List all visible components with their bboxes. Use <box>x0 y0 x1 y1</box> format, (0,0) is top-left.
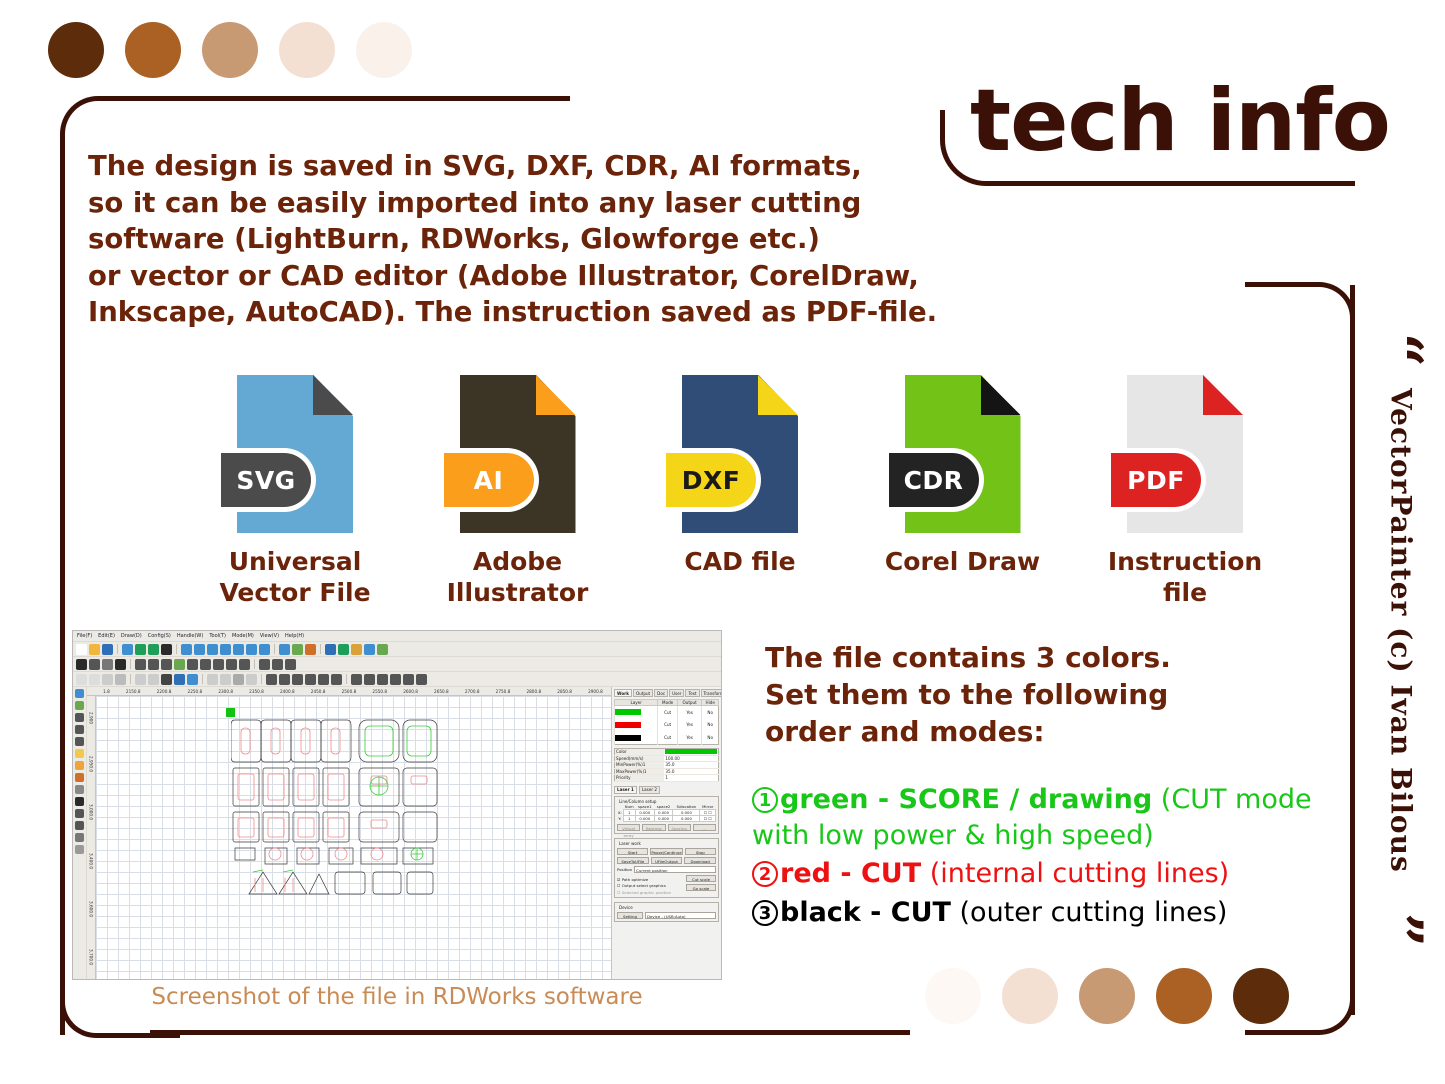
rdworks-menu-draw[interactable]: Draw(D) <box>121 633 142 639</box>
rdworks-menu-mode[interactable]: Mode(M) <box>232 633 254 639</box>
rdworks-laser-work-row1[interactable]: StartPause/ContinueStop <box>617 848 716 855</box>
tool-palette-icon-5[interactable] <box>75 749 84 758</box>
ruler-v-tick-0: 2,900 <box>89 712 94 724</box>
array-row[interactable]: Y:10.0000.0000.000☐ ☐ <box>617 816 716 822</box>
ruler-v-tick-1: 2,950.0 <box>89 756 94 772</box>
title-underline <box>1000 181 1355 186</box>
toolbar-icon-28[interactable] <box>416 674 427 685</box>
rdworks-device-title: Device <box>617 905 716 910</box>
ruler-h-tick-16: 2900.8 <box>588 689 603 694</box>
ruler-h-tick-13: 2750.8 <box>496 689 511 694</box>
file-icon-card-dxf: DXFCAD file <box>655 375 825 578</box>
toolbar-icon-12[interactable] <box>220 644 231 655</box>
rdworks-ruler-horizontal: 1.82150.82200.82250.82300.82350.82400.82… <box>87 687 611 696</box>
color-mode-item-2: 2red - CUT (internal cutting lines) <box>752 856 1342 892</box>
layer-hide-cell: No <box>702 706 719 719</box>
decor-dot-2 <box>1079 968 1135 1024</box>
frame-line-bottom <box>150 1030 910 1035</box>
watermark-text: VectorPainter (c) Ivan Bilous <box>1378 330 1424 930</box>
toolbar-icon-16[interactable] <box>266 674 277 685</box>
svg-file-icon: SVG <box>237 375 353 533</box>
toolbar-icon-8[interactable] <box>174 674 185 685</box>
layer-row[interactable]: CutYesNo <box>615 719 719 731</box>
toolbar-icon-17[interactable] <box>279 674 290 685</box>
tool-palette-icon-4[interactable] <box>75 737 84 746</box>
array-column-2: space1 <box>635 804 654 810</box>
screenshot-caption: Screenshot of the file in RDWorks softwa… <box>72 984 722 1010</box>
rdworks-menu-file[interactable]: File(F) <box>77 633 92 639</box>
toolbar-icon-2[interactable] <box>102 674 113 685</box>
laser-work-button-savetoufile[interactable]: SaveToUFile <box>617 857 649 864</box>
decor-dot-1 <box>1002 968 1058 1024</box>
tool-palette-icon-1[interactable] <box>75 701 84 710</box>
toolbar-separator <box>261 674 262 684</box>
toolbar-icon-6[interactable] <box>148 674 159 685</box>
rdworks-tab-output[interactable]: Output <box>633 689 653 697</box>
rdworks-device-setting-button[interactable]: Setting <box>617 912 643 919</box>
layer-swatch-cell[interactable] <box>615 706 658 719</box>
toolbar-separator <box>274 644 275 654</box>
toolbar-icon-1[interactable] <box>89 644 100 655</box>
laser-work-button-download[interactable]: Download <box>684 857 716 864</box>
toolbar-icon-6[interactable] <box>148 659 159 670</box>
layer-row[interactable]: CutYesNo <box>615 731 719 744</box>
rdworks-right-panel[interactable]: WorkOutputDocUserTestTransform LayerMode… <box>611 687 721 980</box>
ruler-h-tick-4: 2300.8 <box>218 689 233 694</box>
tool-palette-icon-7[interactable] <box>75 773 84 782</box>
toolbar-icon-4[interactable] <box>122 644 133 655</box>
rdworks-tab-transform[interactable]: Transform <box>701 689 723 697</box>
toolbar-icon-17[interactable] <box>279 644 290 655</box>
rdworks-tab-doc[interactable]: Doc <box>654 689 668 697</box>
toolbar-icon-11[interactable] <box>207 644 218 655</box>
rdworks-tab-user[interactable]: User <box>669 689 684 697</box>
layer-mode-cell: Cut <box>658 719 678 731</box>
tool-palette-icon-0[interactable] <box>75 689 84 698</box>
toolbar-icon-15[interactable] <box>259 644 270 655</box>
color-item-rest: (outer cutting lines) <box>951 897 1227 928</box>
ruler-h-tick-3: 2250.8 <box>188 689 203 694</box>
param-row[interactable]: Priority1 <box>615 775 719 782</box>
ruler-h-tick-15: 2850.8 <box>557 689 572 694</box>
rdworks-menu-config[interactable]: Config(S) <box>148 633 171 639</box>
rdworks-menu-edit[interactable]: Edit(E) <box>98 633 115 639</box>
toolbar-icon-10[interactable] <box>194 644 205 655</box>
toolbar-icon-25[interactable] <box>377 674 388 685</box>
array-dislocation[interactable]: 0.000 <box>673 816 700 822</box>
tool-palette-icon-6[interactable] <box>75 761 84 770</box>
color-item-bold: green - SCORE / drawing <box>780 784 1152 815</box>
toolbar-icon-8[interactable] <box>174 659 185 670</box>
rdworks-screenshot: File(F)Edit(E)Draw(D)Config(S)Handle(W)T… <box>72 630 722 980</box>
ruler-h-tick-7: 2450.8 <box>311 689 326 694</box>
rdworks-selected-position-checkbox[interactable]: ☐ Selected graphic position <box>617 890 684 895</box>
color-item-number: 1 <box>752 787 778 813</box>
rdworks-design-artwork <box>231 714 441 899</box>
intro-paragraph: The design is saved in SVG, DXF, CDR, AI… <box>88 148 958 331</box>
file-icon-caption: Universal Vector File <box>219 547 370 608</box>
array-column-4: Sdiscation <box>673 804 700 810</box>
toolbar-icon-19[interactable] <box>305 644 316 655</box>
array-button-1[interactable]: Bestrew <box>642 824 665 831</box>
array-column-5: Mirror <box>700 804 716 810</box>
toolbar-icon-0[interactable] <box>76 644 87 655</box>
array-column-1: Num <box>623 804 635 810</box>
rdworks-output-select-checkbox[interactable]: ☐ Output select graphics <box>617 883 684 888</box>
rdworks-toolbar-draw[interactable] <box>73 657 721 672</box>
layer-row[interactable]: CutYesNo <box>615 706 719 719</box>
color-item-number: 3 <box>752 900 778 926</box>
page-title: tech info <box>970 78 1390 164</box>
toolbar-icon-11[interactable] <box>207 674 218 685</box>
toolbar-icon-20[interactable] <box>318 674 329 685</box>
layer-output-cell: Yes <box>677 719 701 731</box>
toolbar-icon-3[interactable] <box>115 659 126 670</box>
decor-dot-0 <box>48 22 104 78</box>
ruler-h-tick-10: 2600.8 <box>403 689 418 694</box>
rdworks-menu-bar[interactable]: File(F)Edit(E)Draw(D)Config(S)Handle(W)T… <box>73 631 721 642</box>
file-icon-card-svg: SVGUniversal Vector File <box>210 375 380 608</box>
rdworks-canvas-area[interactable]: 1.82150.82200.82250.82300.82350.82400.82… <box>87 687 611 980</box>
ruler-v-tick-4: 3,600.0 <box>89 901 94 917</box>
rdworks-parameter-table[interactable]: ColorSpeed(mm/s)100.00MinPower(%)135.0Ma… <box>614 748 719 782</box>
file-icon-caption: Adobe Illustrator <box>447 547 589 608</box>
ruler-h-tick-6: 2400.8 <box>280 689 295 694</box>
toolbar-icon-19[interactable] <box>305 674 316 685</box>
frame-line-right <box>1350 285 1355 1015</box>
toolbar-separator <box>176 644 177 654</box>
toolbar-icon-18[interactable] <box>292 644 303 655</box>
decorative-dots-top <box>48 22 412 78</box>
dxf-file-icon: DXF <box>682 375 798 533</box>
rdworks-array-buttons[interactable]: Virtual arrayBestrewSpacing... <box>617 824 716 831</box>
toolbar-separator <box>130 659 131 669</box>
rdworks-device-select[interactable]: Device - (USB:Auto) <box>645 912 716 919</box>
toolbar-icon-7[interactable] <box>161 659 172 670</box>
toolbar-icon-0[interactable] <box>76 674 87 685</box>
layer-mode-cell: Cut <box>658 731 678 744</box>
rdworks-laser-work-row2[interactable]: SaveToUFileUFileOutputDownload <box>617 857 716 864</box>
rdworks-toolbar-align[interactable] <box>73 672 721 687</box>
toolbar-icon-1[interactable] <box>89 659 100 670</box>
ai-file-icon: AI <box>460 375 576 533</box>
toolbar-icon-24[interactable] <box>364 644 375 655</box>
file-badge-label: AI <box>474 466 504 495</box>
param-label: Priority <box>615 775 665 782</box>
ruler-h-tick-14: 2800.8 <box>526 689 541 694</box>
quote-close-glyph: ” <box>1369 913 1429 948</box>
toolbar-icon-6[interactable] <box>148 644 159 655</box>
rdworks-tab-test[interactable]: Test <box>685 689 699 697</box>
toolbar-icon-12[interactable] <box>220 674 231 685</box>
array-button-0[interactable]: Virtual array <box>617 824 640 831</box>
rdworks-canvas-grid[interactable] <box>96 696 611 980</box>
rdworks-laser-tab-1[interactable]: Laser 1 <box>614 786 637 794</box>
toolbar-icon-16[interactable] <box>272 659 283 670</box>
rdworks-laser-tab-2[interactable]: Laser 2 <box>639 786 660 794</box>
toolbar-icon-14[interactable] <box>246 674 257 685</box>
array-mirror[interactable]: ☐ ☐ <box>700 816 716 822</box>
rdworks-position-select[interactable]: Current position <box>634 866 716 873</box>
color-item-bold: red - CUT <box>780 858 921 889</box>
toolbar-icon-5[interactable] <box>135 644 146 655</box>
toolbar-icon-9[interactable] <box>187 674 198 685</box>
rdworks-array-grid[interactable]: Numspace1space2SdiscationMirror X:10.000… <box>617 804 716 823</box>
array-space1[interactable]: 0.000 <box>635 816 654 822</box>
rdworks-path-optimize-label: Path optimize <box>622 877 649 882</box>
decor-dot-0 <box>925 968 981 1024</box>
rdworks-array-group[interactable]: Line/Column setup Numspace1space2Sdiscat… <box>614 796 719 835</box>
toolbar-icon-7[interactable] <box>161 644 172 655</box>
toolbar-icon-5[interactable] <box>135 659 146 670</box>
toolbar-icon-24[interactable] <box>364 674 375 685</box>
toolbar-separator <box>346 674 347 684</box>
toolbar-icon-2[interactable] <box>102 644 113 655</box>
rdworks-output-select-label: Output select graphics <box>622 883 666 888</box>
decor-dot-3 <box>1156 968 1212 1024</box>
toolbar-icon-13[interactable] <box>233 674 244 685</box>
rdworks-tab-work[interactable]: Work <box>614 689 632 697</box>
toolbar-icon-5[interactable] <box>135 674 146 685</box>
ruler-h-tick-0: 1.8 <box>103 689 110 694</box>
rdworks-go-scale-button[interactable]: Go scale <box>686 884 716 891</box>
rdworks-menu-view[interactable]: View(V) <box>260 633 279 639</box>
rdworks-laser-work-title: Laser work <box>617 841 716 846</box>
toolbar-icon-13[interactable] <box>233 644 244 655</box>
decorative-dots-bottom <box>925 968 1289 1024</box>
layer-output-cell: Yes <box>677 731 701 744</box>
color-item-number: 2 <box>752 861 778 887</box>
file-icon-card-pdf: PDFInstruction file <box>1100 375 1270 608</box>
frame-line-left <box>60 190 65 1035</box>
laser-work-button-stop[interactable]: Stop <box>685 848 716 855</box>
decor-dot-2 <box>202 22 258 78</box>
file-badge-label: CDR <box>904 466 964 495</box>
color-mode-item-3: 3black - CUT (outer cutting lines) <box>752 895 1342 931</box>
rdworks-position-label: Position <box>617 867 632 872</box>
toolbar-icon-17[interactable] <box>285 659 296 670</box>
rdworks-panel-tabs[interactable]: WorkOutputDocUserTestTransform <box>614 689 719 697</box>
tool-palette-icon-12[interactable] <box>75 833 84 842</box>
layer-swatch-cell[interactable] <box>615 719 658 731</box>
frame-corner-top-right <box>1245 282 1355 326</box>
rdworks-tool-palette[interactable] <box>73 687 87 980</box>
toolbar-icon-23[interactable] <box>351 644 362 655</box>
frame-corner-bottom-right <box>1245 995 1355 1035</box>
toolbar-icon-7[interactable] <box>161 674 172 685</box>
tool-palette-icon-13[interactable] <box>75 845 84 854</box>
param-value[interactable]: 1 <box>664 775 718 782</box>
toolbar-icon-9[interactable] <box>187 659 198 670</box>
toolbar-icon-25[interactable] <box>377 644 388 655</box>
layer-hide-cell: No <box>702 719 719 731</box>
color-item-rest: (internal cutting lines) <box>921 858 1229 889</box>
layer-output-cell: Yes <box>677 706 701 719</box>
file-icon-caption: Instruction file <box>1100 547 1270 608</box>
decor-dot-3 <box>279 22 335 78</box>
toolbar-separator <box>320 644 321 654</box>
toolbar-icon-21[interactable] <box>331 674 342 685</box>
rdworks-laser-work-group[interactable]: Laser work StartPause/ContinueStop SaveT… <box>614 838 719 898</box>
laser-work-button-ufileoutput[interactable]: UFileOutput <box>651 857 683 864</box>
colors-heading: The file contains 3 colors. Set them to … <box>765 640 1325 751</box>
file-icon-card-ai: AIAdobe Illustrator <box>433 375 603 608</box>
toolbar-icon-12[interactable] <box>226 659 237 670</box>
rdworks-menu-tool[interactable]: Tool(T) <box>209 633 226 639</box>
toolbar-icon-22[interactable] <box>338 644 349 655</box>
laser-work-button-start[interactable]: Start <box>617 848 648 855</box>
rdworks-device-group[interactable]: Device Setting Device - (USB:Auto) <box>614 902 719 922</box>
rdworks-cut-scale-button[interactable]: Cut scale <box>686 875 716 882</box>
color-item-bold: black - CUT <box>780 897 951 928</box>
toolbar-icon-2[interactable] <box>102 659 113 670</box>
rdworks-layer-table[interactable]: LayerModeOutputHide CutYesNoCutYesNoCutY… <box>614 699 719 745</box>
ruler-v-tick-3: 3,400.0 <box>89 853 94 869</box>
ruler-h-tick-2: 2200.8 <box>157 689 172 694</box>
array-button-2[interactable]: Spacing <box>668 824 691 831</box>
layer-hide-cell: No <box>702 731 719 744</box>
toolbar-icon-27[interactable] <box>403 674 414 685</box>
toolbar-icon-21[interactable] <box>325 644 336 655</box>
file-icon-card-cdr: CDRCorel Draw <box>878 375 1048 578</box>
file-badge-label: SVG <box>236 466 295 495</box>
toolbar-separator <box>254 659 255 669</box>
ruler-h-tick-12: 2700.8 <box>465 689 480 694</box>
array-column-3: space2 <box>654 804 673 810</box>
rdworks-ruler-vertical: 2,9002,950.03,000.03,400.03,600.03,700.0 <box>87 696 96 980</box>
colors-list: 1green - SCORE / drawing (CUT mode with … <box>752 782 1342 933</box>
ruler-h-tick-1: 2150.8 <box>126 689 141 694</box>
rdworks-menu-handle[interactable]: Handle(W) <box>177 633 203 639</box>
decor-dot-4 <box>356 22 412 78</box>
file-badge-label: PDF <box>1127 466 1185 495</box>
toolbar-separator <box>117 644 118 654</box>
toolbar-icon-11[interactable] <box>213 659 224 670</box>
toolbar-icon-0[interactable] <box>76 659 87 670</box>
layer-mode-cell: Cut <box>658 706 678 719</box>
toolbar-icon-18[interactable] <box>292 674 303 685</box>
ruler-h-tick-8: 2500.8 <box>342 689 357 694</box>
toolbar-icon-9[interactable] <box>181 644 192 655</box>
toolbar-icon-14[interactable] <box>246 644 257 655</box>
rdworks-path-optimize-checkbox[interactable]: ☑ Path optimize <box>617 877 684 882</box>
array-button-3[interactable]: ... <box>693 824 716 831</box>
tool-palette-icon-9[interactable] <box>75 797 84 806</box>
toolbar-icon-15[interactable] <box>259 659 270 670</box>
color-mode-item-1: 1green - SCORE / drawing (CUT mode with … <box>752 782 1342 854</box>
toolbar-icon-26[interactable] <box>390 674 401 685</box>
pdf-file-icon: PDF <box>1127 375 1243 533</box>
toolbar-separator <box>202 674 203 684</box>
ruler-h-tick-9: 2550.8 <box>372 689 387 694</box>
array-space2[interactable]: 0.000 <box>654 816 673 822</box>
cdr-file-icon: CDR <box>905 375 1021 533</box>
toolbar-icon-23[interactable] <box>351 674 362 685</box>
toolbar-icon-3[interactable] <box>115 674 126 685</box>
file-icon-caption: CAD file <box>684 547 795 578</box>
toolbar-icon-1[interactable] <box>89 674 100 685</box>
tool-palette-icon-3[interactable] <box>75 725 84 734</box>
tool-palette-icon-10[interactable] <box>75 809 84 818</box>
rdworks-laser-tabs[interactable]: Laser 1Laser 2 <box>614 786 719 794</box>
file-badge-label: DXF <box>682 466 741 495</box>
tool-palette-icon-11[interactable] <box>75 821 84 830</box>
toolbar-icon-10[interactable] <box>200 659 211 670</box>
tool-palette-icon-8[interactable] <box>75 785 84 794</box>
ruler-h-tick-5: 2350.8 <box>249 689 264 694</box>
file-format-icon-row: SVGUniversal Vector FileAIAdobe Illustra… <box>210 375 1270 608</box>
array-num[interactable]: 1 <box>623 816 635 822</box>
layer-swatch-cell[interactable] <box>615 731 658 744</box>
rdworks-menu-help[interactable]: Help(H) <box>285 633 304 639</box>
ruler-v-tick-5: 3,700.0 <box>89 949 94 965</box>
ruler-h-tick-11: 2650.8 <box>434 689 449 694</box>
tool-palette-icon-2[interactable] <box>75 713 84 722</box>
laser-work-button-pause-continue[interactable]: Pause/Continue <box>650 848 682 855</box>
toolbar-separator <box>130 674 131 684</box>
rdworks-toolbar-main[interactable] <box>73 642 721 657</box>
ruler-v-tick-2: 3,000.0 <box>89 804 94 820</box>
decor-dot-1 <box>125 22 181 78</box>
file-icon-caption: Corel Draw <box>885 547 1040 578</box>
toolbar-icon-13[interactable] <box>239 659 250 670</box>
rdworks-selected-position-label: Selected graphic position <box>622 890 671 895</box>
